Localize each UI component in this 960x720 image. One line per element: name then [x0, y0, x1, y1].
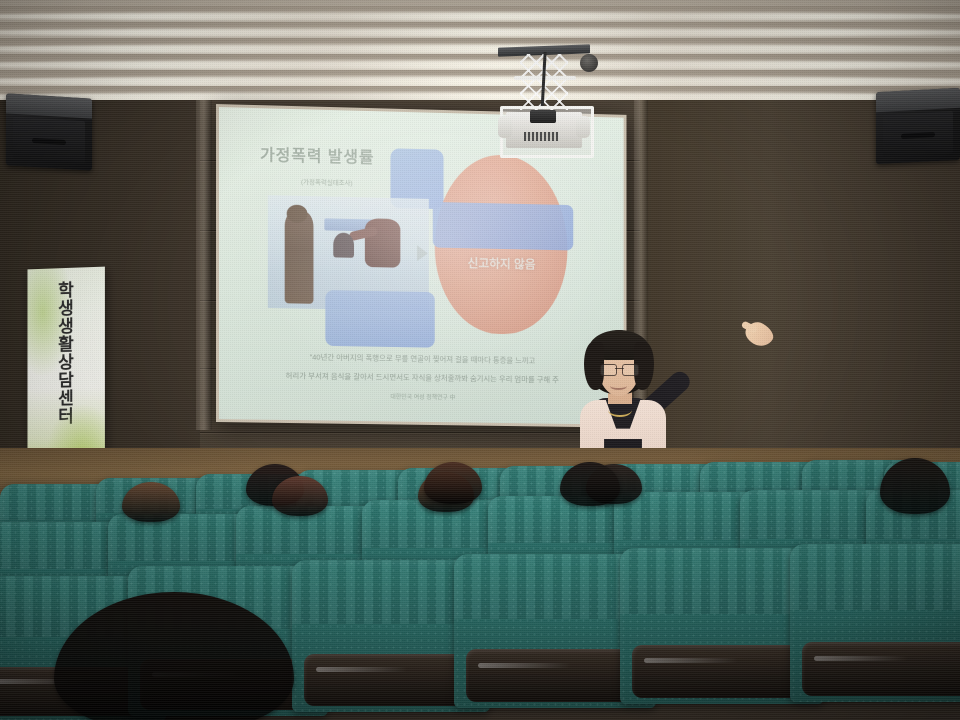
seat-headrest — [632, 645, 812, 698]
seat-headrest-gloss — [316, 667, 407, 672]
presenter-necklace — [608, 403, 632, 417]
slide-title: 가정폭력 발생률 — [260, 141, 374, 168]
slide-circle-label: 신고하지 않음 — [447, 254, 556, 273]
lecture-hall-photo: 가정폭력 발생률 (가정폭력실태조사) 신고하지 않음 "40년간 아버지의 폭… — [0, 0, 960, 720]
slide-callout-box-photo — [325, 290, 435, 348]
ceiling — [0, 0, 960, 112]
seat-headrest-gloss — [814, 656, 908, 661]
wall-speaker-left — [6, 93, 92, 170]
presenter-glasses-icon — [600, 364, 639, 374]
slide-arrow-icon — [417, 245, 428, 261]
seat-headrest — [304, 654, 478, 706]
banner-char-6: 센 — [27, 389, 104, 408]
ceiling-light — [0, 44, 960, 54]
ceiling-sensor-icon — [580, 54, 598, 72]
news-photo-reporter — [284, 212, 313, 304]
ceiling-light — [0, 60, 960, 70]
seat-headrest-gloss — [644, 658, 738, 663]
news-photo-figure-secondary — [333, 233, 354, 258]
banner-char-4: 상 — [27, 353, 104, 373]
speaker-top-bracket — [876, 88, 960, 113]
projector-mount-knob-left — [498, 116, 512, 138]
wall-pillar-left — [196, 100, 212, 430]
banner-text: 학생생활상담센터 — [27, 281, 104, 427]
projector-mount-knob-right — [576, 116, 590, 138]
speaker-top-bracket — [6, 93, 92, 118]
news-photo-figure — [365, 218, 400, 268]
wall-speaker-right — [876, 88, 960, 164]
banner-char-5: 담 — [27, 371, 104, 391]
presenter-smile — [610, 382, 627, 390]
auditorium-seat — [790, 544, 960, 702]
ceiling-light — [0, 76, 960, 87]
slide-callout-box-circle — [433, 202, 574, 250]
banner-char-3: 활 — [27, 335, 104, 355]
seat-headrest-gloss — [478, 663, 571, 668]
banner-char-7: 터 — [27, 407, 104, 426]
audience-seating — [0, 448, 960, 720]
seat-headrest — [466, 649, 644, 701]
seat-headrest — [802, 642, 960, 696]
ceiling-light — [0, 28, 960, 37]
projector-lens — [530, 110, 556, 123]
slide-subtitle: (가정폭력실태조사) — [301, 176, 353, 187]
ceiling-light — [0, 12, 960, 21]
ceiling-projector — [484, 40, 604, 170]
projector-vent — [524, 132, 558, 141]
